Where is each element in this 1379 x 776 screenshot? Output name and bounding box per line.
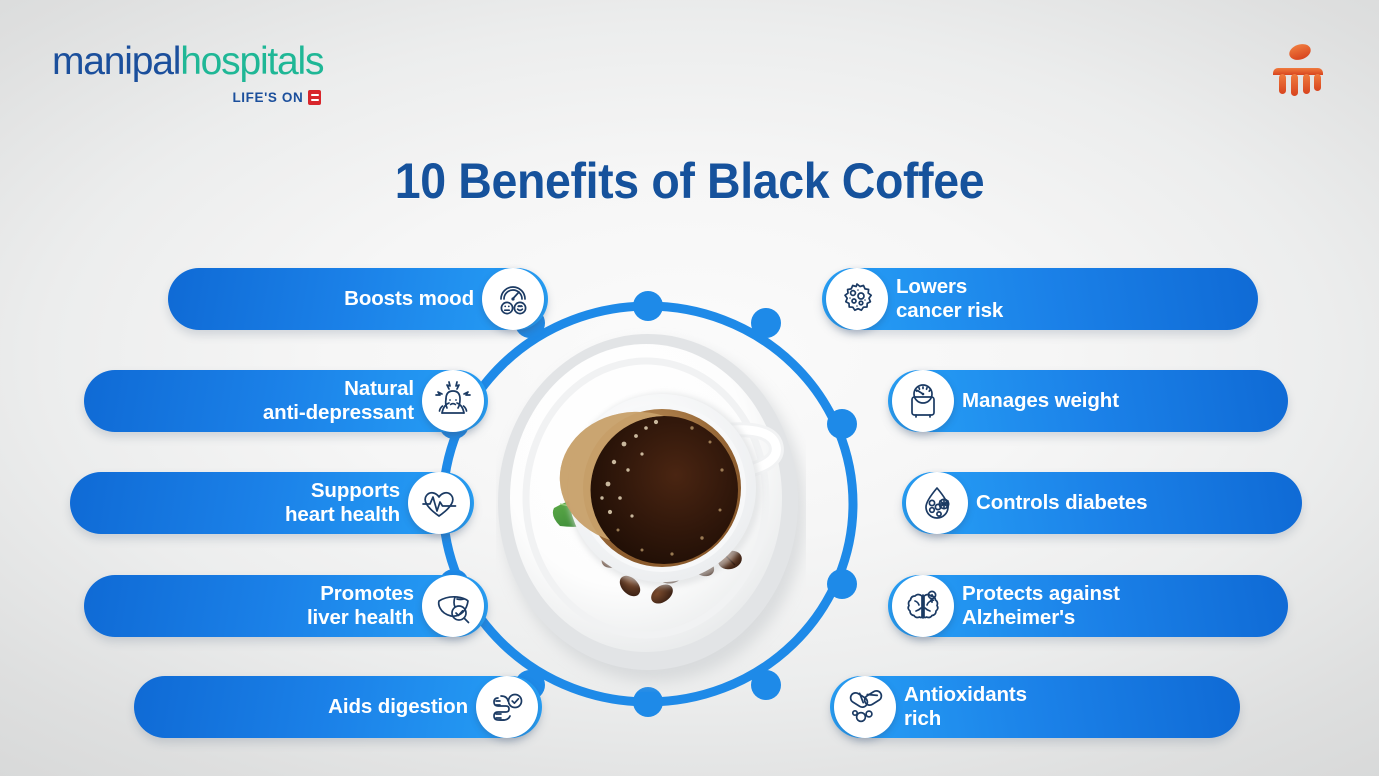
brand-tagline: LIFE'S ON	[52, 90, 323, 105]
benefit-label: Natural anti-depressant	[263, 377, 414, 425]
benefit-pill-natural-anti-depressant[interactable]: Natural anti-depressant	[84, 370, 488, 432]
brand-name-part2: hospitals	[180, 40, 323, 83]
benefit-label: Manages weight	[962, 389, 1119, 413]
benefit-pill-promotes-liver-health[interactable]: Promotes liver health	[84, 575, 488, 637]
mood-meter-icon	[482, 268, 544, 330]
benefit-pill-controls-diabetes[interactable]: Controls diabetes	[902, 472, 1302, 534]
benefit-label: Protects against Alzheimer's	[962, 582, 1120, 630]
blood-glucose-icon	[906, 472, 968, 534]
liver-check-icon	[422, 575, 484, 637]
benefit-label: Aids digestion	[328, 695, 468, 719]
pills-capsules-icon	[834, 676, 896, 738]
benefit-pill-lowers-cancer-risk[interactable]: Lowers cancer risk	[822, 268, 1258, 330]
brand-logo: manipalhospitals LIFE'S ON	[52, 42, 323, 105]
benefit-pill-antioxidants-rich[interactable]: Antioxidants rich	[830, 676, 1240, 738]
benefit-pill-supports-heart-health[interactable]: Supports heart health	[70, 472, 474, 534]
benefit-pill-aids-digestion[interactable]: Aids digestion	[134, 676, 542, 738]
benefit-label: Controls diabetes	[976, 491, 1147, 515]
cancer-cell-icon	[826, 268, 888, 330]
brain-icon	[892, 575, 954, 637]
heart-ecg-icon	[408, 472, 470, 534]
equals-mark-icon	[308, 90, 321, 105]
brand-name-part1: manipal	[52, 40, 180, 83]
benefit-label: Boosts mood	[344, 287, 474, 311]
brand-wordmark: manipalhospitals	[52, 42, 323, 81]
benefit-pill-manages-weight[interactable]: Manages weight	[888, 370, 1288, 432]
manipal-figure-icon	[1269, 38, 1327, 96]
page-title: 10 Benefits of Black Coffee	[48, 152, 1330, 210]
weight-scale-icon	[892, 370, 954, 432]
brand-tagline-text: LIFE'S ON	[232, 90, 303, 105]
black-coffee-cup-photo	[496, 312, 806, 692]
benefit-label: Antioxidants rich	[904, 683, 1027, 731]
benefit-label: Promotes liver health	[307, 582, 414, 630]
benefit-label: Lowers cancer risk	[896, 275, 1003, 323]
benefit-pill-boosts-mood[interactable]: Boosts mood	[168, 268, 548, 330]
stressed-head-icon	[422, 370, 484, 432]
infographic-canvas: manipalhospitals LIFE'S ON 10 Benefits o…	[0, 0, 1379, 776]
intestine-check-icon	[476, 676, 538, 738]
benefit-pill-protects-against-alzheimers[interactable]: Protects against Alzheimer's	[888, 575, 1288, 637]
benefit-label: Supports heart health	[285, 479, 400, 527]
